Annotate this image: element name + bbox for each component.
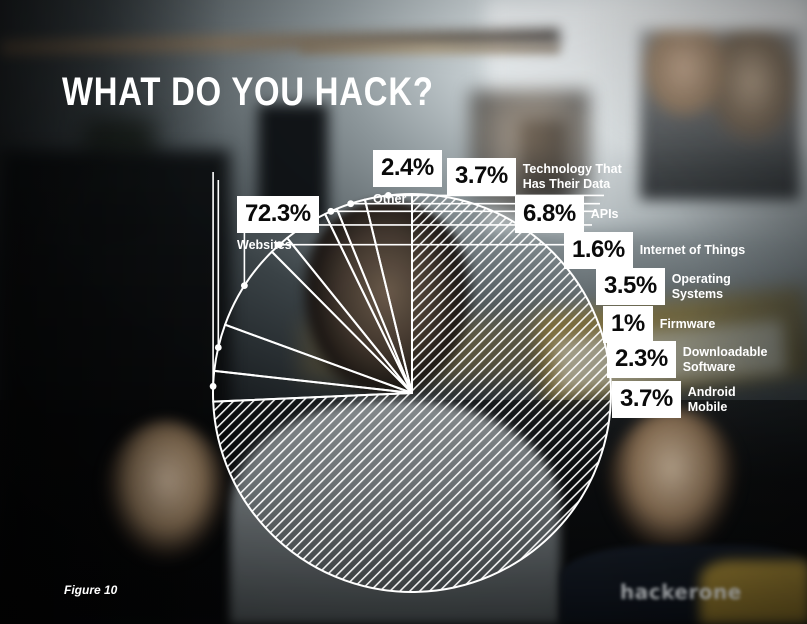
label-android-pct: 3.7% — [612, 381, 681, 418]
label-firmware-pct: 1% — [603, 306, 653, 343]
label-apis: 6.8% APIs — [515, 196, 619, 233]
label-iot-pct: 1.6% — [564, 232, 633, 269]
label-iot-cat: Internet of Things — [640, 243, 746, 257]
label-other-pct: 2.4% — [373, 150, 442, 187]
figure-caption: Figure 10 — [64, 583, 117, 597]
label-os-cat: Operating Systems — [672, 272, 731, 301]
label-other-cat: Other — [373, 192, 442, 206]
slide-canvas: hackerone WHAT DO YOU HACK? 72.3% Websit… — [0, 0, 807, 624]
label-internet-of-things: 1.6% Internet of Things — [564, 232, 745, 269]
leader-line — [215, 180, 222, 351]
label-apis-pct: 6.8% — [515, 196, 584, 233]
label-downsoft-cat: Downloadable Software — [683, 345, 768, 374]
label-techdata-pct: 3.7% — [447, 158, 516, 195]
leader-dot — [328, 208, 335, 215]
pie-slices — [213, 194, 611, 592]
leader-dot — [241, 282, 248, 289]
label-firmware-cat: Firmware — [660, 317, 716, 331]
label-android-mobile: 3.7% Android Mobile — [612, 381, 736, 418]
label-downloadable-software: 2.3% Downloadable Software — [607, 341, 767, 378]
label-downsoft-pct: 2.3% — [607, 341, 676, 378]
label-technology-that-has-their-data: 3.7% Technology That Has Their Data — [447, 158, 622, 195]
leader-dot — [347, 200, 354, 207]
label-techdata-cat: Technology That Has Their Data — [523, 162, 622, 191]
leader-dot — [215, 344, 222, 351]
pie-slice — [272, 238, 412, 393]
label-apis-cat: APIs — [591, 207, 619, 221]
pie-slice — [337, 200, 412, 393]
label-websites: 72.3% Websites — [237, 196, 319, 252]
label-firmware: 1% Firmware — [603, 306, 715, 343]
label-android-cat: Android Mobile — [688, 385, 736, 414]
label-websites-pct: 72.3% — [237, 196, 319, 233]
label-os-pct: 3.5% — [596, 268, 665, 305]
label-operating-systems: 3.5% Operating Systems — [596, 268, 731, 305]
leader-dot — [210, 383, 217, 390]
label-websites-cat: Websites — [237, 238, 319, 252]
label-other: 2.4% Other — [373, 150, 442, 206]
